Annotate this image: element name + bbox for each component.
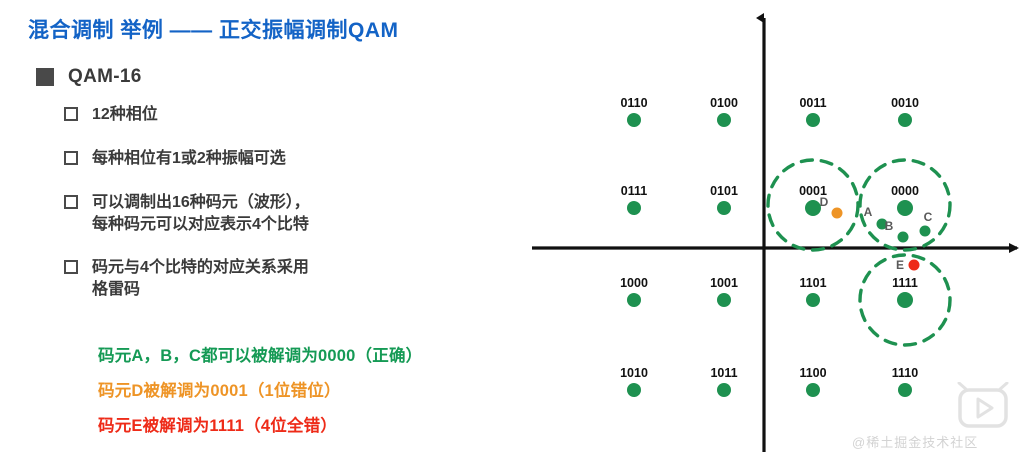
constellation-point bbox=[806, 293, 820, 307]
constellation-point bbox=[898, 383, 912, 397]
constellation-label: 1100 bbox=[799, 366, 826, 380]
hollow-square-bullet-icon bbox=[64, 107, 78, 121]
decision-region-circles bbox=[768, 160, 950, 345]
constellation-label: 0010 bbox=[891, 96, 919, 110]
constellation-label: 0111 bbox=[621, 184, 647, 198]
conclusion-line-correct: 码元A，B，C都可以被解调为0000（正确） bbox=[98, 342, 422, 366]
constellation-label: 0101 bbox=[710, 184, 738, 198]
bullet-level1-label: QAM-16 bbox=[68, 66, 142, 88]
watermark-text: @稀土掘金技术社区 bbox=[852, 432, 978, 451]
received-symbol-label: E bbox=[896, 258, 904, 272]
constellation-point bbox=[897, 292, 913, 308]
slide-canvas: 混合调制 举例 —— 正交振幅调制QAM QAM-16 12种相位 每种相位有1… bbox=[0, 0, 1033, 462]
filled-square-bullet-icon bbox=[36, 68, 54, 86]
constellation-label: 1011 bbox=[710, 366, 737, 380]
constellation-point bbox=[627, 113, 641, 127]
constellation-point bbox=[717, 201, 731, 215]
received-symbol-point bbox=[909, 260, 920, 271]
bullet-item-2: 每种相位有1或2种振幅可选 bbox=[64, 148, 286, 170]
constellation-point bbox=[717, 383, 731, 397]
received-symbol-point bbox=[898, 232, 909, 243]
constellation-label: 1110 bbox=[892, 366, 918, 380]
constellation-point bbox=[898, 113, 912, 127]
constellation-point bbox=[897, 200, 913, 216]
received-symbol-label: D bbox=[820, 195, 829, 209]
bullet-item-3-label: 可以调制出16种码元（波形）， 每种码元可以对应表示4个比特 bbox=[92, 192, 310, 236]
constellation-point bbox=[717, 293, 731, 307]
constellation-label: 0000 bbox=[891, 184, 919, 198]
constellation-point bbox=[627, 201, 641, 215]
left-content-pane: QAM-16 12种相位 每种相位有1或2种振幅可选 可以调制出16种码元（波形… bbox=[0, 52, 530, 462]
play-button-logo-icon bbox=[955, 382, 1011, 430]
constellation-label: 1111 bbox=[892, 276, 918, 290]
received-symbol-point bbox=[920, 226, 931, 237]
constellation-label: 0100 bbox=[710, 96, 738, 110]
constellation-point bbox=[627, 383, 641, 397]
conclusion-line-all-bits-error: 码元E被解调为1111（4位全错） bbox=[98, 412, 337, 436]
constellation-label: 0110 bbox=[620, 96, 647, 110]
bullet-item-4: 码元与4个比特的对应关系采用 格雷码 bbox=[64, 257, 309, 301]
constellation-label: 0011 bbox=[799, 96, 826, 110]
constellation-point bbox=[805, 200, 821, 216]
constellation-point bbox=[806, 383, 820, 397]
hollow-square-bullet-icon bbox=[64, 260, 78, 274]
hollow-square-bullet-icon bbox=[64, 195, 78, 209]
received-symbol-label: B bbox=[885, 219, 894, 233]
bullet-level1-qam16: QAM-16 bbox=[36, 66, 142, 88]
page-title: 混合调制 举例 —— 正交振幅调制QAM bbox=[28, 14, 399, 44]
hollow-square-bullet-icon bbox=[64, 151, 78, 165]
constellation-point bbox=[806, 113, 820, 127]
received-symbol-group: ABCDE bbox=[820, 195, 933, 272]
bullet-item-1: 12种相位 bbox=[64, 104, 158, 126]
bullet-item-1-label: 12种相位 bbox=[92, 104, 158, 126]
constellation-label: 1010 bbox=[620, 366, 648, 380]
constellation-label: 1001 bbox=[710, 276, 738, 290]
conclusion-line-one-bit-error: 码元D被解调为0001（1位错位） bbox=[98, 377, 341, 401]
constellation-point bbox=[627, 293, 641, 307]
bullet-item-3: 可以调制出16种码元（波形）， 每种码元可以对应表示4个比特 bbox=[64, 192, 310, 236]
received-symbol-label: A bbox=[864, 205, 873, 219]
constellation-label: 1000 bbox=[620, 276, 648, 290]
constellation-point bbox=[717, 113, 731, 127]
bullet-item-4-label: 码元与4个比特的对应关系采用 格雷码 bbox=[92, 257, 309, 301]
received-symbol-point bbox=[832, 208, 843, 219]
constellation-label: 1101 bbox=[799, 276, 826, 290]
received-symbol-label: C bbox=[924, 210, 933, 224]
bullet-item-2-label: 每种相位有1或2种振幅可选 bbox=[92, 148, 286, 170]
